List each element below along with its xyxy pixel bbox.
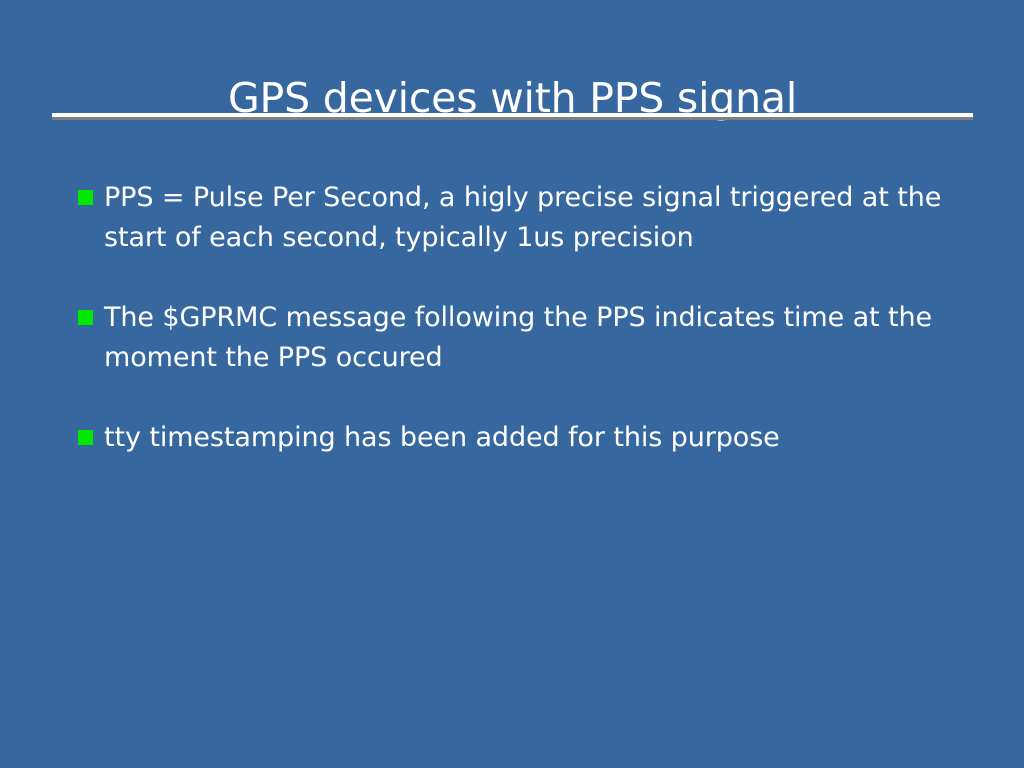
list-item-label: tty timestamping has been added for this… <box>104 418 958 458</box>
green-square-bullet-icon <box>78 430 93 445</box>
list-item: The $GPRMC message following the PPS ind… <box>78 298 958 378</box>
list-item-label: PPS = Pulse Per Second, a higly precise … <box>104 178 958 258</box>
title-divider-rule <box>52 113 973 120</box>
green-square-bullet-icon <box>78 190 93 205</box>
green-square-bullet-icon <box>78 310 93 325</box>
rule-shadow-line <box>52 117 973 120</box>
list-item: tty timestamping has been added for this… <box>78 418 958 458</box>
list-item: PPS = Pulse Per Second, a higly precise … <box>78 178 958 258</box>
list-item-label: The $GPRMC message following the PPS ind… <box>104 298 958 378</box>
presentation-slide: GPS devices with PPS signal PPS = Pulse … <box>0 0 1024 768</box>
bullet-list: PPS = Pulse Per Second, a higly precise … <box>78 178 958 458</box>
